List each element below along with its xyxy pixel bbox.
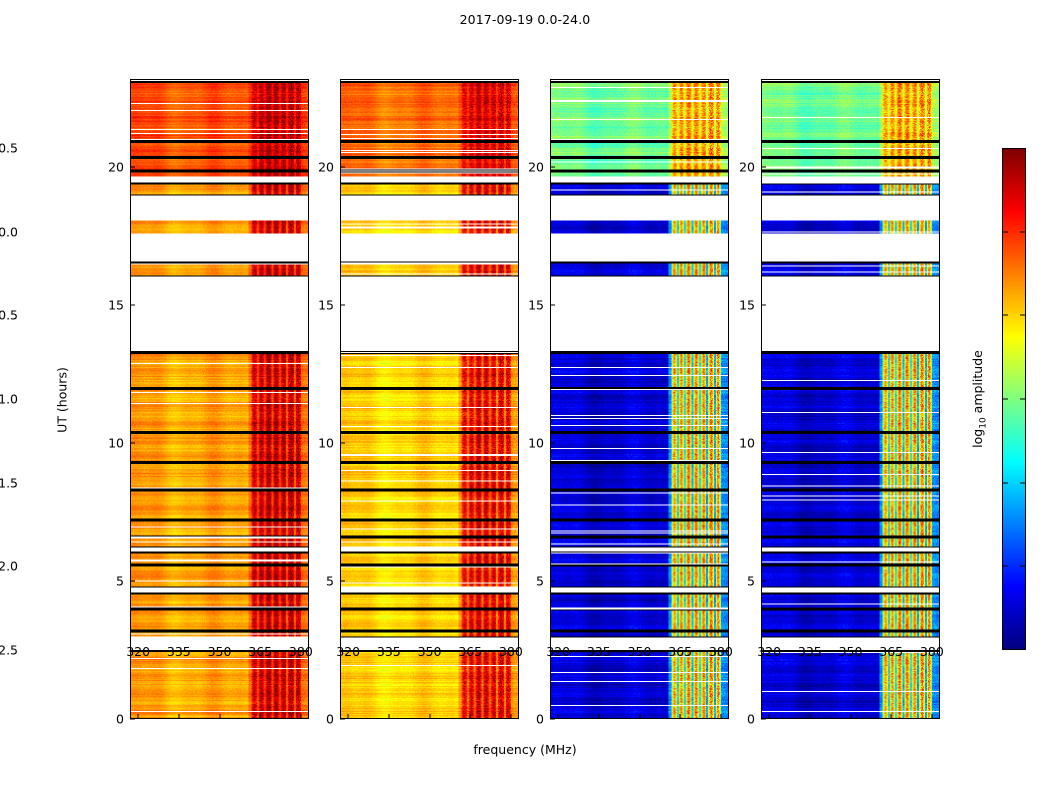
x-tick-mark — [639, 714, 640, 719]
y-tick-mark — [761, 719, 766, 720]
y-tick-mark — [761, 305, 766, 306]
heatmap-yx — [762, 80, 939, 718]
y-tick-mark — [761, 443, 766, 444]
colorbar-tick-mark — [1020, 482, 1026, 483]
y-tick-label: 15 — [318, 298, 334, 313]
y-tick-label: 5 — [326, 574, 334, 589]
heatmap-xx — [131, 80, 308, 718]
colorbar-tick-label: 0.0 — [0, 224, 18, 239]
colorbar-tick-mark — [1020, 231, 1026, 232]
y-tick-mark — [550, 719, 555, 720]
y-tick-mark — [130, 719, 135, 720]
y-tick-mark — [340, 443, 345, 444]
y-tick-label: 20 — [318, 160, 334, 175]
x-tick-mark — [219, 714, 220, 719]
colorbar-tick-mark — [1002, 231, 1008, 232]
x-tick-mark — [720, 714, 721, 719]
y-tick-label: 5 — [747, 574, 755, 589]
y-tick-mark — [130, 581, 135, 582]
colorbar-label-subscript: 10 — [978, 417, 988, 428]
y-tick-mark — [340, 305, 345, 306]
y-tick-label: 10 — [318, 436, 334, 451]
x-tick-label: 320 — [546, 644, 570, 659]
y-tick-label: 20 — [528, 160, 544, 175]
y-tick-mark — [550, 581, 555, 582]
x-tick-mark — [429, 714, 430, 719]
y-tick-mark — [550, 443, 555, 444]
x-tick-mark — [510, 714, 511, 719]
colorbar-tick-mark — [1020, 399, 1026, 400]
x-tick-label: 350 — [208, 644, 232, 659]
y-tick-label: 20 — [108, 160, 124, 175]
y-tick-mark — [550, 167, 555, 168]
x-tick-mark — [680, 714, 681, 719]
x-tick-mark — [558, 714, 559, 719]
x-tick-label: 350 — [839, 644, 863, 659]
colorbar-tick-label: -1.0 — [0, 392, 18, 407]
x-tick-mark — [470, 714, 471, 719]
colorbar-tick-mark — [1002, 399, 1008, 400]
figure-title: 2017-09-19 0.0-24.0 — [0, 12, 1050, 27]
x-tick-mark — [931, 714, 932, 719]
x-tick-mark — [769, 714, 770, 719]
panel-yy[interactable]: YY, V6=EA09 — [340, 79, 519, 719]
x-tick-mark — [891, 714, 892, 719]
colorbar-tick-label: -2.5 — [0, 643, 18, 658]
x-tick-mark — [850, 714, 851, 719]
colorbar-tick-mark — [1020, 315, 1026, 316]
colorbar-label-text: log — [970, 429, 985, 448]
y-axis-label: UT (hours) — [55, 367, 70, 433]
colorbar-tick-label: -2.0 — [0, 559, 18, 574]
panel-xx[interactable]: XX, V6=EA09 — [130, 79, 309, 719]
y-tick-label: 15 — [739, 298, 755, 313]
y-tick-mark — [340, 581, 345, 582]
colorbar-tick-mark — [1002, 315, 1008, 316]
x-tick-mark — [138, 714, 139, 719]
panel-xy[interactable]: XY, V6=EA09 — [550, 79, 729, 719]
x-tick-label: 365 — [248, 644, 272, 659]
x-tick-label: 380 — [499, 644, 523, 659]
x-tick-label: 365 — [879, 644, 903, 659]
y-tick-label: 0 — [747, 712, 755, 727]
x-tick-label: 320 — [757, 644, 781, 659]
y-tick-mark — [130, 167, 135, 168]
y-tick-label: 10 — [528, 436, 544, 451]
x-tick-label: 350 — [418, 644, 442, 659]
panel-yx[interactable]: YX, V6=EA09 — [761, 79, 940, 719]
colorbar-label: log10 amplitude — [970, 350, 989, 448]
y-tick-label: 0 — [326, 712, 334, 727]
y-tick-mark — [550, 305, 555, 306]
y-tick-mark — [130, 443, 135, 444]
y-tick-label: 15 — [108, 298, 124, 313]
x-tick-label: 320 — [336, 644, 360, 659]
x-tick-mark — [300, 714, 301, 719]
x-tick-mark — [348, 714, 349, 719]
x-tick-label: 365 — [668, 644, 692, 659]
heatmap-xy — [551, 80, 728, 718]
x-tick-mark — [809, 714, 810, 719]
y-tick-label: 5 — [116, 574, 124, 589]
x-tick-mark — [388, 714, 389, 719]
colorbar-tick-label: -1.5 — [0, 475, 18, 490]
x-tick-label: 335 — [167, 644, 191, 659]
colorbar-tick-mark — [1002, 482, 1008, 483]
y-tick-label: 0 — [536, 712, 544, 727]
colorbar-tick-label: -0.5 — [0, 308, 18, 323]
x-tick-mark — [598, 714, 599, 719]
x-tick-label: 365 — [458, 644, 482, 659]
colorbar-label-tail: amplitude — [970, 350, 985, 417]
heatmap-yy — [341, 80, 518, 718]
y-tick-mark — [130, 305, 135, 306]
x-axis-label: frequency (MHz) — [0, 742, 1050, 757]
x-tick-label: 350 — [628, 644, 652, 659]
colorbar-tick-label: 0.5 — [0, 141, 18, 156]
y-tick-mark — [761, 167, 766, 168]
x-tick-label: 320 — [126, 644, 150, 659]
y-tick-label: 0 — [116, 712, 124, 727]
x-tick-label: 380 — [289, 644, 313, 659]
x-tick-label: 380 — [920, 644, 944, 659]
y-tick-label: 10 — [108, 436, 124, 451]
x-tick-label: 335 — [377, 644, 401, 659]
x-tick-label: 335 — [798, 644, 822, 659]
colorbar-tick-mark — [1002, 566, 1008, 567]
x-tick-mark — [260, 714, 261, 719]
colorbar-tick-mark — [1020, 566, 1026, 567]
y-tick-label: 15 — [528, 298, 544, 313]
y-tick-mark — [761, 581, 766, 582]
x-tick-mark — [178, 714, 179, 719]
y-tick-label: 20 — [739, 160, 755, 175]
y-tick-label: 10 — [739, 436, 755, 451]
figure-canvas: 2017-09-19 0.0-24.0 XX, V6=EA09 YY, V6=E… — [0, 0, 1050, 800]
x-tick-label: 335 — [587, 644, 611, 659]
y-tick-label: 5 — [536, 574, 544, 589]
y-tick-mark — [340, 719, 345, 720]
x-tick-label: 380 — [709, 644, 733, 659]
y-tick-mark — [340, 167, 345, 168]
